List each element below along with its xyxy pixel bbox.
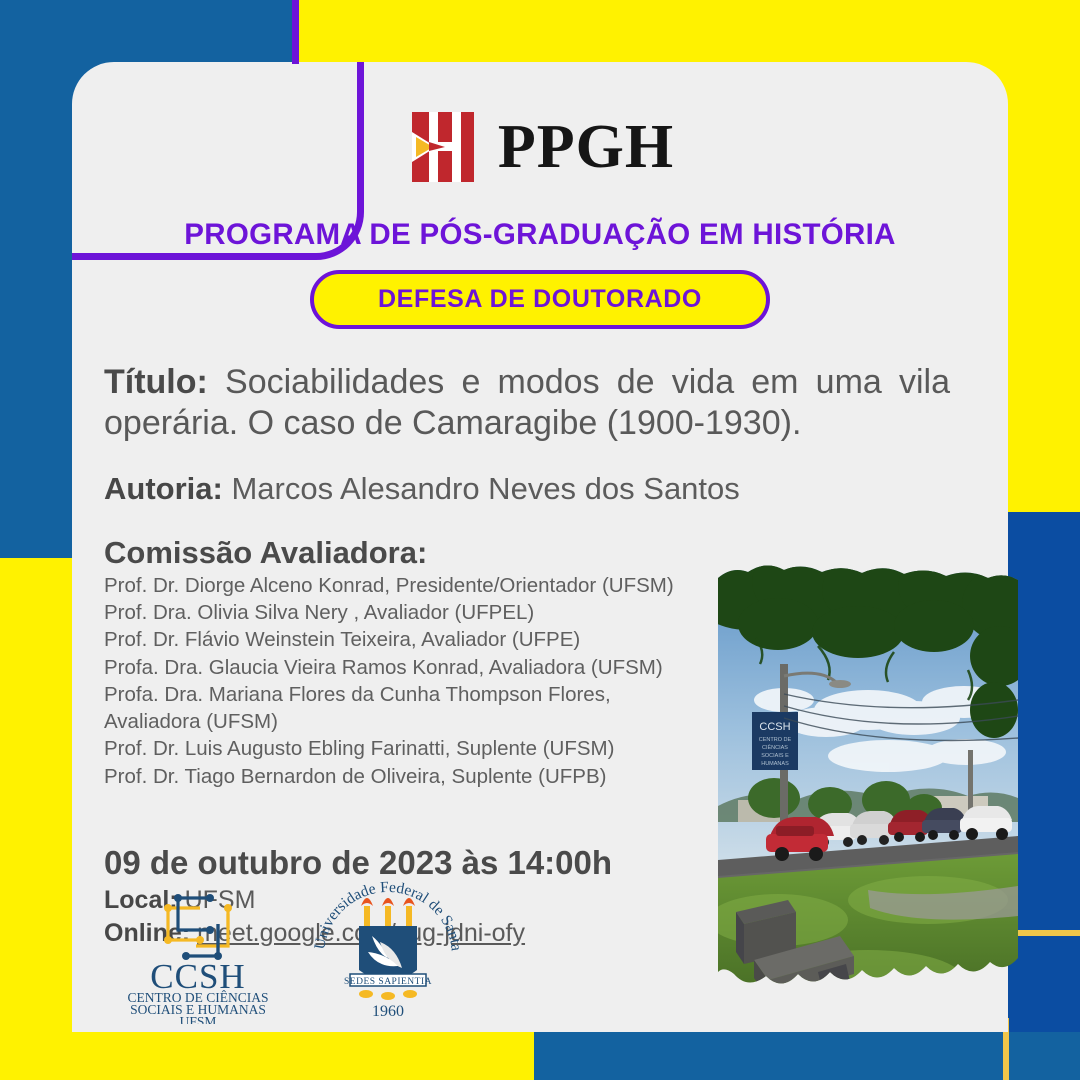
- purple-accent-vertical: [292, 0, 299, 64]
- svg-text:CIÊNCIAS: CIÊNCIAS: [762, 743, 788, 751]
- svg-text:CENTRO DE: CENTRO DE: [759, 737, 792, 743]
- status-badge: DEFESA DE DOUTORADO: [310, 270, 770, 329]
- svg-text:CCSH: CCSH: [759, 721, 790, 733]
- svg-text:HUMANAS: HUMANAS: [761, 761, 789, 767]
- bg-block-bottom-blue: [534, 1032, 1080, 1080]
- bg-block-bottom-yellow: [0, 1032, 534, 1080]
- poster-root: PPGH PROGRAMA DE PÓS-GRADUAÇÃO EM HISTÓR…: [0, 0, 1080, 1080]
- bg-block-right-yellow: [1008, 0, 1080, 512]
- ppgh-wordmark: PPGH: [498, 116, 674, 178]
- badge-row: DEFESA DE DOUTORADO: [72, 270, 1008, 329]
- svg-text:SOCIAIS E: SOCIAIS E: [761, 753, 789, 759]
- thesis-title-value: Sociabilidades e modos de vida em uma vi…: [104, 363, 950, 442]
- ufsm-seal-logo: Universidade Federal de Santa Maria: [302, 874, 474, 1024]
- author-label: Autoria:: [104, 471, 223, 506]
- footer-logos: CCSH CENTRO DE CIÊNCIAS SOCIAIS E HUMANA…: [120, 874, 474, 1024]
- ccsh-logo: CCSH CENTRO DE CIÊNCIAS SOCIAIS E HUMANA…: [120, 888, 276, 1024]
- author-line: Autoria: Marcos Alesandro Neves dos Sant…: [104, 471, 968, 507]
- svg-text:SEDES SAPIENTIA: SEDES SAPIENTIA: [344, 977, 432, 987]
- thesis-title-label: Título:: [104, 363, 208, 401]
- ppgh-monogram-icon: [406, 110, 480, 184]
- page-title: PROGRAMA DE PÓS-GRADUAÇÃO EM HISTÓRIA: [72, 218, 1008, 252]
- bg-block-left-yellow: [0, 558, 72, 1080]
- bg-block-left-blue: [0, 0, 72, 558]
- svg-text:UFSM: UFSM: [180, 1014, 217, 1024]
- ppgh-logo: PPGH: [72, 110, 1008, 184]
- purple-accent-tail: [72, 253, 152, 260]
- thesis-title: Título: Sociabilidades e modos de vida e…: [104, 362, 968, 445]
- svg-text:1960: 1960: [372, 1003, 404, 1020]
- author-value: Marcos Alesandro Neves dos Santos: [231, 471, 739, 506]
- bg-block-top-yellow: [292, 0, 1080, 62]
- campus-photo: CCSH CENTRO DE CIÊNCIAS SOCIAIS E HUMANA…: [718, 560, 1018, 1030]
